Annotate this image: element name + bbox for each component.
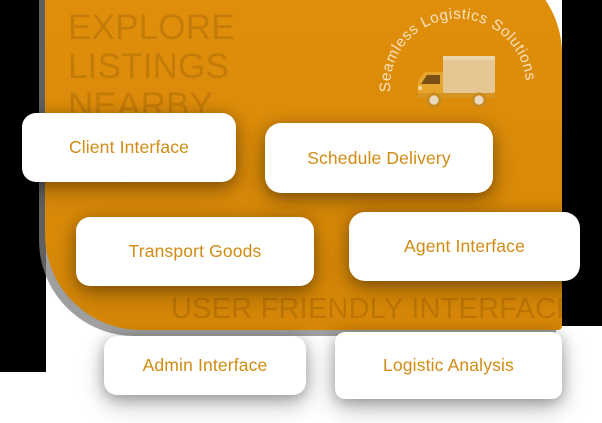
card-schedule-delivery[interactable]: Schedule Delivery xyxy=(265,123,493,193)
ghost-heading-user-friendly-interface: USER FRIENDLY INTERFACE xyxy=(171,293,562,325)
card-client-interface[interactable]: Client Interface xyxy=(22,113,236,182)
card-admin-interface-label: Admin Interface xyxy=(143,355,268,376)
card-transport-goods-label: Transport Goods xyxy=(129,241,262,262)
card-admin-interface[interactable]: Admin Interface xyxy=(104,336,306,395)
card-logistic-analysis-label: Logistic Analysis xyxy=(383,355,514,376)
card-logistic-analysis[interactable]: Logistic Analysis xyxy=(335,332,562,399)
ghost-heading-explore-listings-nearby: EXPLORE LISTINGS NEARBY xyxy=(68,8,235,126)
stage: EXPLORE LISTINGS NEARBY USER FRIENDLY IN… xyxy=(0,0,602,423)
delivery-truck-icon xyxy=(407,48,507,112)
card-schedule-delivery-label: Schedule Delivery xyxy=(307,148,451,169)
backdrop-left xyxy=(0,0,46,372)
card-agent-interface-label: Agent Interface xyxy=(404,236,525,257)
card-agent-interface[interactable]: Agent Interface xyxy=(349,212,580,281)
card-client-interface-label: Client Interface xyxy=(69,137,189,158)
card-transport-goods[interactable]: Transport Goods xyxy=(76,217,314,286)
